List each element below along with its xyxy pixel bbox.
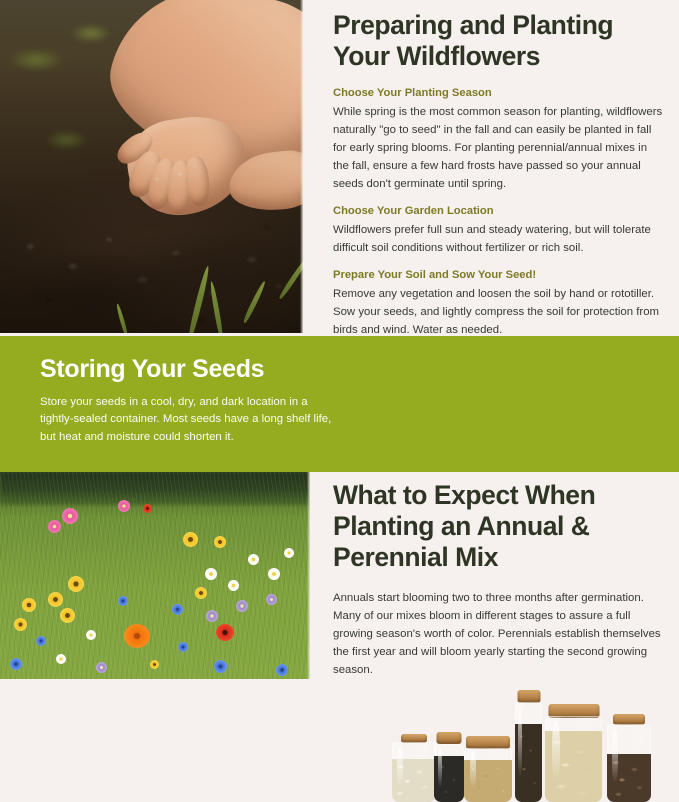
flower-blue xyxy=(276,664,288,676)
flower-blue xyxy=(214,660,227,673)
section-planting-season-body: While spring is the most common season f… xyxy=(333,103,663,193)
flower-white xyxy=(86,630,96,640)
section-garden-location-heading: Choose Your Garden Location xyxy=(333,204,663,219)
flower-yellow xyxy=(150,660,159,669)
flower-pink xyxy=(62,508,78,524)
storing-your-seeds-body: Store your seeds in a cool, dry, and dar… xyxy=(40,394,340,447)
section-prepare-soil-heading: Prepare Your Soil and Sow Your Seed! xyxy=(333,268,663,283)
section-planting-season: Choose Your Planting Season While spring… xyxy=(333,86,663,193)
glass-highlight xyxy=(397,746,403,788)
flower-white xyxy=(248,554,259,565)
jar-glass xyxy=(515,702,542,802)
jar-glass xyxy=(607,724,651,802)
section-prepare-soil: Prepare Your Soil and Sow Your Seed! Rem… xyxy=(333,268,663,339)
seed-jars-photo xyxy=(392,682,662,802)
article-what-to-expect-body: Annuals start blooming two to three mont… xyxy=(333,589,663,679)
meadow-grass-texture xyxy=(0,472,310,679)
section-prepare-soil-body: Remove any vegetation and loosen the soi… xyxy=(333,285,663,339)
seed-jar-tan-grain xyxy=(464,736,512,802)
flower-yellow xyxy=(183,532,198,547)
flower-lavender xyxy=(266,594,277,605)
flower-yellow xyxy=(48,592,63,607)
cork-lid xyxy=(437,732,462,744)
flower-yellow xyxy=(214,536,226,548)
flower-red-poppy xyxy=(216,624,234,641)
photo-edge-fade xyxy=(300,0,303,333)
jar-glass xyxy=(545,716,602,802)
jar-glass xyxy=(434,744,464,802)
glass-highlight xyxy=(552,721,560,781)
article-preparing-title: Preparing and Planting Your Wildflowers xyxy=(333,10,663,72)
storing-text-block: Storing Your Seeds Store your seeds in a… xyxy=(40,356,340,447)
section-garden-location: Choose Your Garden Location Wildflowers … xyxy=(333,204,663,257)
storing-your-seeds-band: Storing Your Seeds Store your seeds in a… xyxy=(0,336,679,472)
flower-blue xyxy=(10,658,22,670)
flower-red xyxy=(143,504,152,513)
jar-glass xyxy=(392,742,436,802)
wildflower-meadow-photo xyxy=(0,472,310,679)
article-what-to-expect-title: What to Expect When Planting an Annual &… xyxy=(333,480,663,573)
flower-lavender xyxy=(236,600,248,612)
flower-orange-poppy xyxy=(124,624,150,648)
seed-jar-black-seeds xyxy=(434,732,464,802)
seed-jar-brown-beans xyxy=(607,714,651,802)
article-what-to-expect: What to Expect When Planting an Annual &… xyxy=(333,480,663,679)
jar-glass xyxy=(464,748,512,802)
glass-highlight xyxy=(438,747,442,788)
flower-pink xyxy=(118,500,130,512)
flower-yellow xyxy=(68,576,84,592)
article-preparing-and-planting: Preparing and Planting Your Wildflowers … xyxy=(333,10,663,339)
flower-pink xyxy=(48,520,61,533)
photo-edge-fade xyxy=(307,472,310,679)
seed-jar-dark-speckled xyxy=(515,690,542,802)
flower-blue xyxy=(118,596,128,606)
flower-yellow xyxy=(195,587,207,599)
flower-blue xyxy=(36,636,46,646)
flower-white xyxy=(268,568,280,580)
flower-blue xyxy=(172,604,183,615)
flower-yellow xyxy=(14,618,27,631)
infographic-page: Preparing and Planting Your Wildflowers … xyxy=(0,0,679,679)
flower-white xyxy=(228,580,239,591)
flower-lavender xyxy=(206,610,218,622)
flower-lavender xyxy=(96,662,107,673)
storing-your-seeds-title: Storing Your Seeds xyxy=(40,356,340,384)
flower-white xyxy=(56,654,66,664)
flower-yellow xyxy=(60,608,75,623)
flower-white xyxy=(284,548,294,558)
seed-jar-pumpkin-seeds xyxy=(545,704,602,802)
section-planting-season-heading: Choose Your Planting Season xyxy=(333,86,663,101)
flower-white xyxy=(205,568,217,580)
glass-highlight xyxy=(518,708,522,778)
section-garden-location-body: Wildflowers prefer full sun and steady w… xyxy=(333,221,663,257)
hand-sowing-seeds-photo xyxy=(0,0,303,333)
flower-blue xyxy=(178,642,188,652)
flower-yellow xyxy=(22,598,36,612)
seed-jar-white-beans xyxy=(392,734,436,802)
